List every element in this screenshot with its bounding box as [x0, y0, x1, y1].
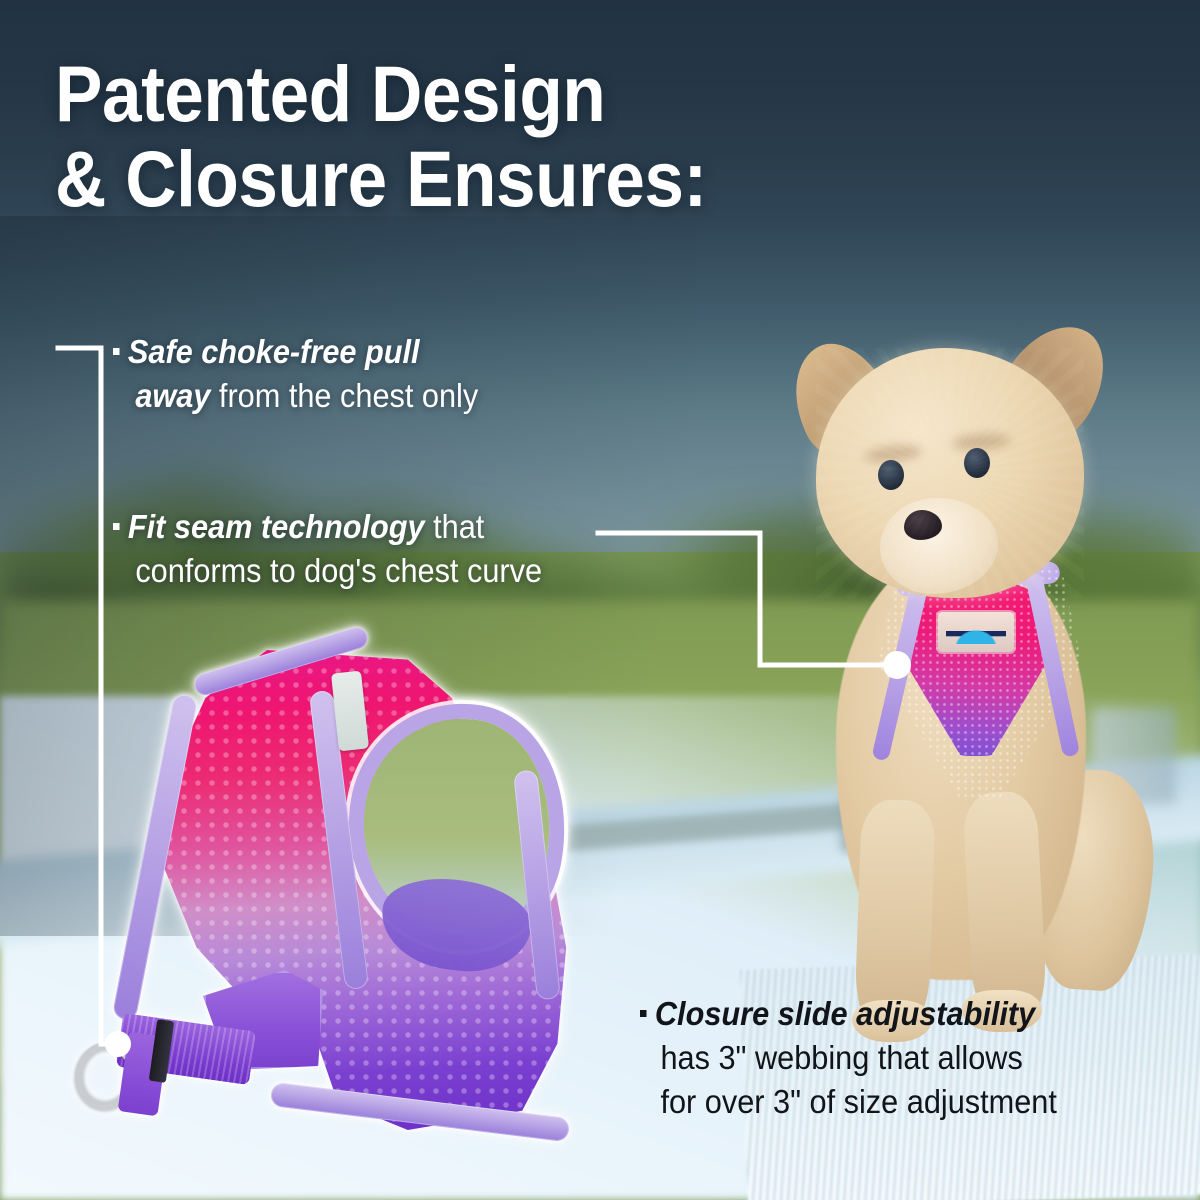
brand-logo-icon — [946, 622, 1006, 644]
promo-image-canvas: Patented Design & Closure Ensures: Safe … — [0, 0, 1200, 1200]
bullet-2-line2: conforms to dog's chest curve — [113, 549, 634, 593]
headline-line-2: & Closure Ensures: — [55, 137, 829, 222]
bullet-1-bold-line2: away — [135, 377, 210, 414]
bullet-2-bold-line1: Fit seam technology — [128, 508, 425, 545]
bullet-3-bold-line1: Closure slide adjustability — [655, 995, 1035, 1032]
bullet-safe-pull-away: Safe choke-free pull away from the chest… — [113, 330, 597, 418]
dog-left-eye — [878, 460, 904, 490]
product-harness-cutout — [95, 630, 615, 1160]
bullet-closure-slide-adjustability: Closure slide adjustability has 3" webbi… — [640, 992, 1142, 1125]
bullet-fit-seam-technology: Fit seam technology that conforms to dog… — [113, 505, 634, 593]
dog-right-eye — [964, 448, 990, 478]
bullet-3-line3: for over 3" of size adjustment — [640, 1080, 1142, 1124]
bullet-1-rest: from the chest only — [210, 377, 478, 414]
dog-worn-harness — [878, 568, 1082, 798]
bullet-marker-icon — [640, 1010, 647, 1017]
bullet-2-rest-line1: that — [425, 508, 485, 545]
bullet-1-bold-line1: Safe choke-free pull — [128, 333, 420, 370]
headline-line-1: Patented Design — [55, 49, 605, 138]
bullet-marker-icon — [113, 348, 120, 355]
harness-brand-label — [938, 612, 1014, 652]
headline: Patented Design & Closure Ensures: — [55, 52, 829, 221]
bullet-1-line2: away from the chest only — [113, 374, 597, 418]
bullet-marker-icon — [113, 523, 120, 530]
dog-front-right-leg — [962, 790, 1048, 1024]
bullet-3-line2: has 3" webbing that allows — [640, 1036, 1142, 1080]
dog-muzzle — [880, 498, 998, 594]
dog-head — [816, 348, 1084, 598]
